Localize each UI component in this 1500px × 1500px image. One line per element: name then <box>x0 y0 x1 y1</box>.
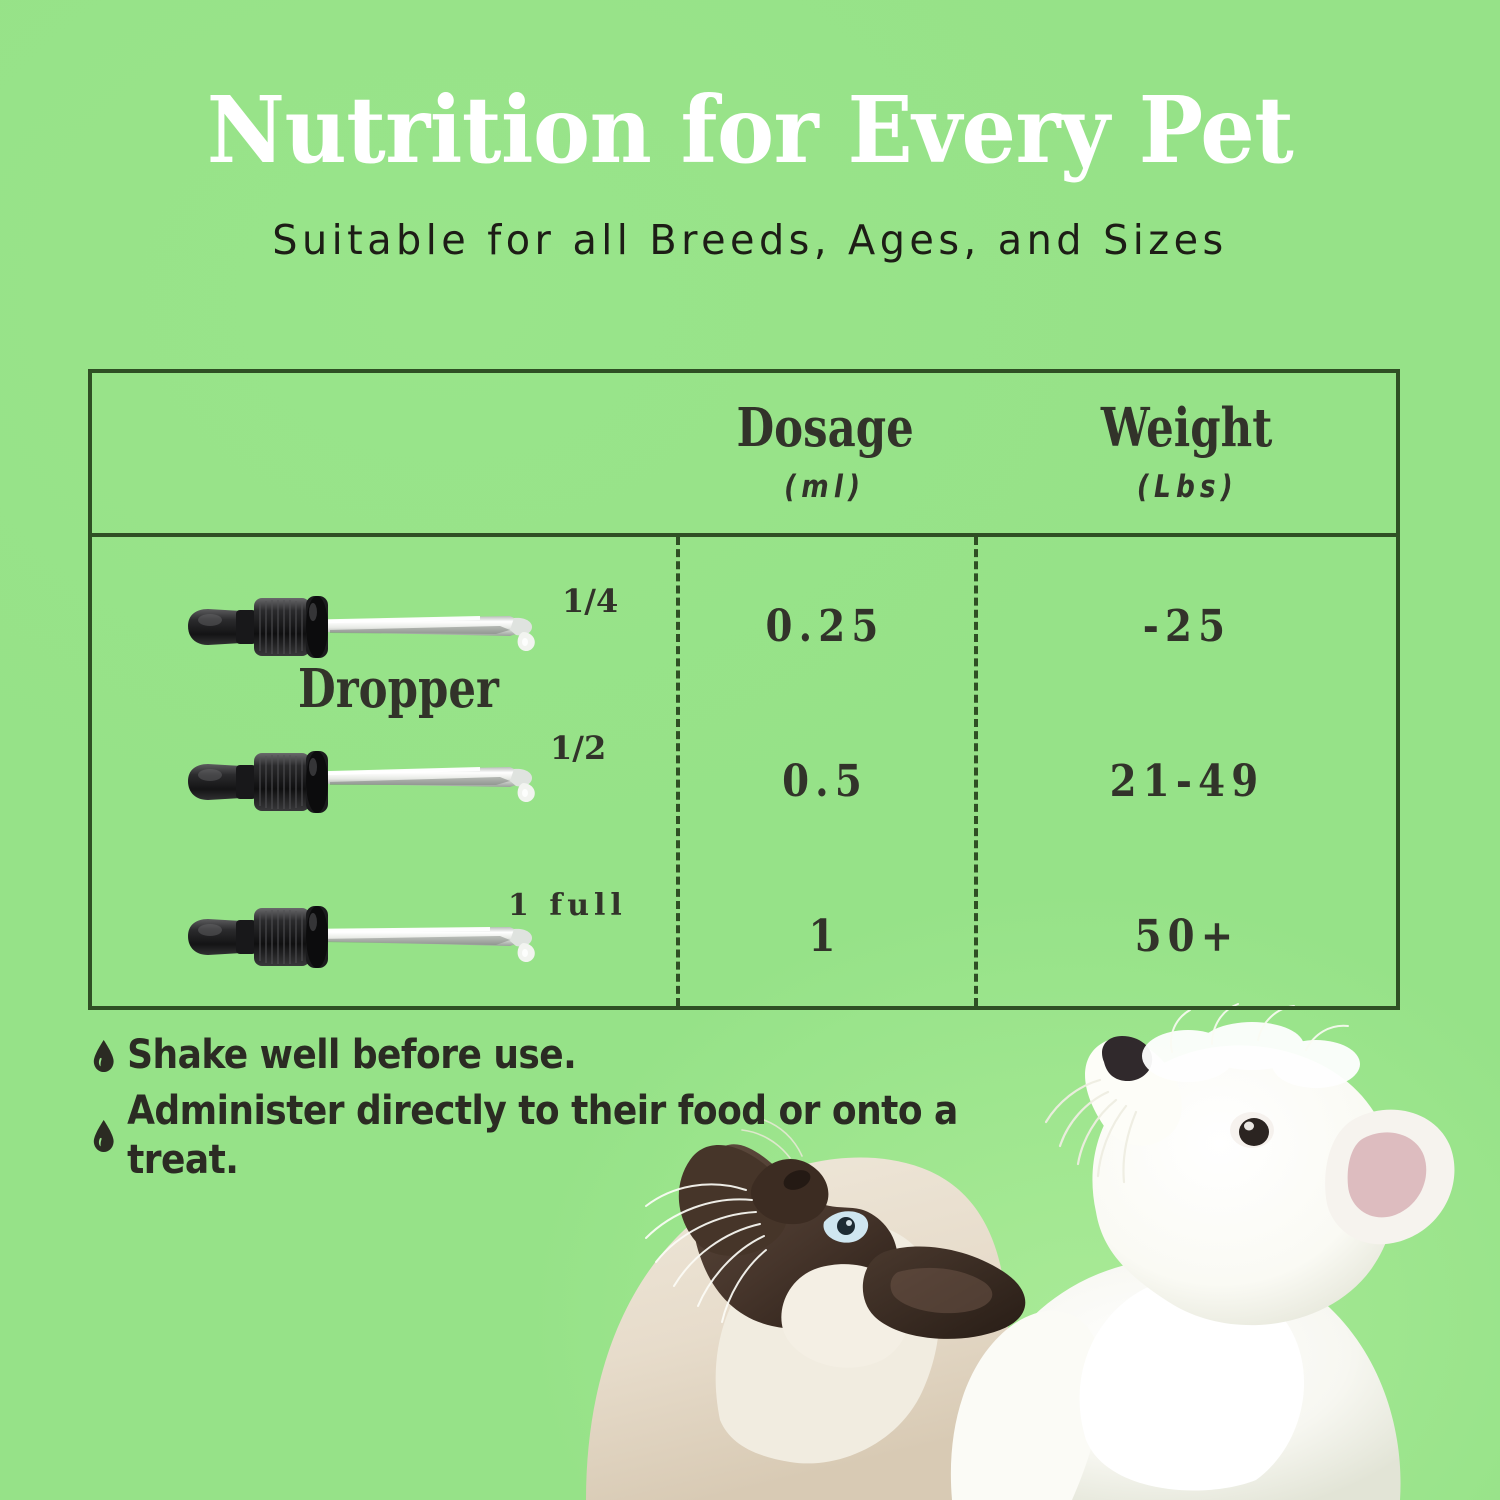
dropper-icon <box>180 745 568 819</box>
list-item: Administer directly to their food or ont… <box>92 1087 992 1186</box>
dropper-cell: 1/4 <box>92 549 676 704</box>
dropper-illustration-full: 1 full <box>180 900 568 974</box>
water-drop-icon <box>92 1119 115 1153</box>
column-header-weight-unit: (Lbs) <box>1137 469 1238 505</box>
dropper-cell: 1 full <box>92 859 676 1014</box>
header-divider <box>92 533 1396 537</box>
weight-value: -25 <box>1000 549 1375 704</box>
weight-value: 21-49 <box>1000 704 1375 859</box>
table-row: 1 full 1 50+ <box>92 859 1396 1014</box>
column-header-weight: Weight (Lbs) <box>974 373 1400 533</box>
page-title: Nutrition for Every Pet <box>53 84 1448 176</box>
table-row: 1/2 0.5 21-49 <box>92 704 1396 859</box>
dropper-fraction-label: 1/2 <box>550 729 606 767</box>
list-item-text: Administer directly to their food or ont… <box>127 1087 992 1186</box>
weight-value: 50+ <box>1000 859 1375 1014</box>
column-header-dosage: Dosage (ml) <box>676 373 974 533</box>
instructions-list: Shake well before use. Administer direct… <box>92 1031 1092 1186</box>
water-drop-icon <box>92 1039 115 1073</box>
column-header-weight-label: Weight <box>1101 401 1272 457</box>
table-row: 1/4 0.25 -25 <box>92 549 1396 704</box>
page-subtitle: Suitable for all Breeds, Ages, and Sizes <box>23 216 1478 264</box>
list-item: Shake well before use. <box>92 1031 992 1081</box>
column-header-dosage-unit: (ml) <box>785 469 866 505</box>
dropper-illustration-quarter: 1/4 <box>180 590 568 664</box>
dosage-table: Dropper Dosage (ml) Weight (Lbs) <box>88 369 1400 1010</box>
dropper-fraction-label: 1/4 <box>562 582 618 620</box>
dropper-fraction-label: 1 full <box>508 888 627 923</box>
dosage-value: 0.25 <box>694 549 956 704</box>
dropper-cell: 1/2 <box>92 704 676 859</box>
dosage-value: 0.5 <box>694 704 956 859</box>
dropper-illustration-half: 1/2 <box>180 745 568 819</box>
column-header-dosage-label: Dosage <box>736 401 913 457</box>
dropper-icon <box>180 590 568 664</box>
list-item-text: Shake well before use. <box>127 1031 576 1081</box>
infographic-canvas: Nutrition for Every Pet Suitable for all… <box>0 0 1500 1500</box>
dosage-value: 1 <box>694 859 956 1014</box>
